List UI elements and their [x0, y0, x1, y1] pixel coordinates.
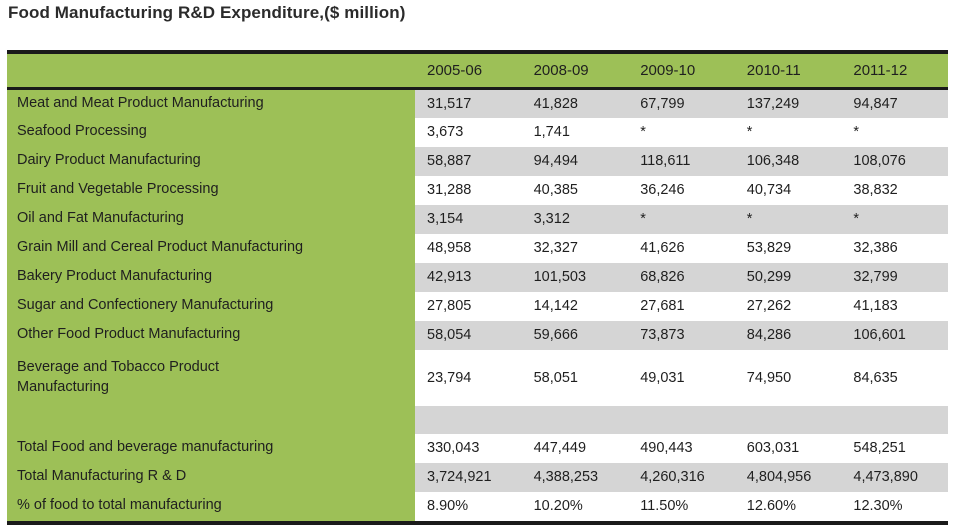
data-cell: 31,288 — [415, 176, 522, 205]
data-cell — [841, 406, 948, 434]
data-cell — [628, 406, 735, 434]
data-cell: 12.60% — [735, 492, 842, 521]
table-row: % of food to total manufacturing8.90%10.… — [7, 492, 948, 521]
table-row: Total Manufacturing R & D3,724,9214,388,… — [7, 463, 948, 492]
table-row: Meat and Meat Product Manufacturing31,51… — [7, 89, 948, 118]
page-title: Food Manufacturing R&D Expenditure,($ mi… — [8, 3, 405, 23]
row-label-line: % of food to total manufacturing — [17, 496, 409, 515]
row-label-line: Beverage and Tobacco Product — [17, 358, 409, 377]
table-row: Beverage and Tobacco ProductManufacturin… — [7, 350, 948, 406]
row-label-cell: Total Manufacturing R & D — [7, 463, 415, 492]
data-cell: * — [735, 118, 842, 147]
row-label-cell: Meat and Meat Product Manufacturing — [7, 89, 415, 118]
row-label-line-2: Manufacturing — [17, 378, 409, 397]
table-row: Oil and Fat Manufacturing3,1543,312*** — [7, 205, 948, 234]
row-label-cell: Seafood Processing — [7, 118, 415, 147]
data-cell: 48,958 — [415, 234, 522, 263]
row-label-line: Bakery Product Manufacturing — [17, 267, 409, 286]
column-header-2010-11: 2010-11 — [735, 54, 842, 89]
data-cell: 53,829 — [735, 234, 842, 263]
data-cell: 4,473,890 — [841, 463, 948, 492]
data-cell: 10.20% — [522, 492, 629, 521]
data-cell: 137,249 — [735, 89, 842, 118]
data-cell: 84,635 — [841, 350, 948, 406]
table-head: 2005-06 2008-09 2009-10 2010-11 2011-12 — [7, 54, 948, 89]
data-cell: 42,913 — [415, 263, 522, 292]
data-cell: * — [735, 205, 842, 234]
data-cell: 50,299 — [735, 263, 842, 292]
data-cell: 40,385 — [522, 176, 629, 205]
data-cell: 4,804,956 — [735, 463, 842, 492]
data-cell: 23,794 — [415, 350, 522, 406]
row-label-line: Total Food and beverage manufacturing — [17, 438, 409, 457]
data-cell: 32,327 — [522, 234, 629, 263]
column-header-2008-09: 2008-09 — [522, 54, 629, 89]
row-label-line: Meat and Meat Product Manufacturing — [17, 94, 409, 113]
data-cell: 11.50% — [628, 492, 735, 521]
row-label-cell: Bakery Product Manufacturing — [7, 263, 415, 292]
data-cell: 68,826 — [628, 263, 735, 292]
data-cell — [415, 406, 522, 434]
row-label-cell: Total Food and beverage manufacturing — [7, 434, 415, 463]
row-label-cell: Dairy Product Manufacturing — [7, 147, 415, 176]
table-row: Bakery Product Manufacturing42,913101,50… — [7, 263, 948, 292]
data-cell: 38,832 — [841, 176, 948, 205]
table-row: Seafood Processing3,6731,741*** — [7, 118, 948, 147]
data-cell: 330,043 — [415, 434, 522, 463]
row-label-cell: Oil and Fat Manufacturing — [7, 205, 415, 234]
row-label-line: Oil and Fat Manufacturing — [17, 209, 409, 228]
table-row: Grain Mill and Cereal Product Manufactur… — [7, 234, 948, 263]
page-root: Food Manufacturing R&D Expenditure,($ mi… — [0, 0, 955, 524]
column-header-2011-12: 2011-12 — [841, 54, 948, 89]
data-cell: 27,262 — [735, 292, 842, 321]
data-cell: * — [628, 118, 735, 147]
row-label-cell: Grain Mill and Cereal Product Manufactur… — [7, 234, 415, 263]
data-cell: * — [841, 118, 948, 147]
data-cell: 73,873 — [628, 321, 735, 350]
data-cell: 101,503 — [522, 263, 629, 292]
data-cell: 59,666 — [522, 321, 629, 350]
row-label-cell: Fruit and Vegetable Processing — [7, 176, 415, 205]
row-label-line: Sugar and Confectionery Manufacturing — [17, 296, 409, 315]
header-row: 2005-06 2008-09 2009-10 2010-11 2011-12 — [7, 54, 948, 89]
data-cell: 58,887 — [415, 147, 522, 176]
data-cell: 12.30% — [841, 492, 948, 521]
row-label-line: Grain Mill and Cereal Product Manufactur… — [17, 238, 409, 257]
row-label-line: Dairy Product Manufacturing — [17, 151, 409, 170]
row-label-cell: Sugar and Confectionery Manufacturing — [7, 292, 415, 321]
data-cell — [735, 406, 842, 434]
data-cell: 3,154 — [415, 205, 522, 234]
data-cell: 14,142 — [522, 292, 629, 321]
data-cell: 1,741 — [522, 118, 629, 147]
data-cell: 106,601 — [841, 321, 948, 350]
data-cell: 548,251 — [841, 434, 948, 463]
data-cell: 118,611 — [628, 147, 735, 176]
expenditure-table-container: 2005-06 2008-09 2009-10 2010-11 2011-12 … — [7, 50, 948, 525]
table-row: Fruit and Vegetable Processing31,28840,3… — [7, 176, 948, 205]
column-header-2009-10: 2009-10 — [628, 54, 735, 89]
data-cell: 31,517 — [415, 89, 522, 118]
data-cell: 67,799 — [628, 89, 735, 118]
row-label-cell: Beverage and Tobacco ProductManufacturin… — [7, 350, 415, 406]
table-spacer-row — [7, 406, 948, 434]
data-cell: 84,286 — [735, 321, 842, 350]
data-cell: 447,449 — [522, 434, 629, 463]
data-cell: 41,183 — [841, 292, 948, 321]
row-label-cell: Other Food Product Manufacturing — [7, 321, 415, 350]
table-row: Other Food Product Manufacturing58,05459… — [7, 321, 948, 350]
data-cell: 74,950 — [735, 350, 842, 406]
data-cell — [522, 406, 629, 434]
data-cell: 603,031 — [735, 434, 842, 463]
data-cell: 41,626 — [628, 234, 735, 263]
data-cell: 4,260,316 — [628, 463, 735, 492]
column-header-2005-06: 2005-06 — [415, 54, 522, 89]
data-cell: 27,805 — [415, 292, 522, 321]
data-cell: 41,828 — [522, 89, 629, 118]
expenditure-table: 2005-06 2008-09 2009-10 2010-11 2011-12 … — [7, 54, 948, 521]
data-cell: 32,799 — [841, 263, 948, 292]
data-cell: 58,051 — [522, 350, 629, 406]
table-row: Dairy Product Manufacturing58,88794,4941… — [7, 147, 948, 176]
data-cell: 106,348 — [735, 147, 842, 176]
table-row: Sugar and Confectionery Manufacturing27,… — [7, 292, 948, 321]
data-cell: 32,386 — [841, 234, 948, 263]
data-cell: 40,734 — [735, 176, 842, 205]
data-cell: * — [841, 205, 948, 234]
data-cell: 3,312 — [522, 205, 629, 234]
data-cell: 27,681 — [628, 292, 735, 321]
data-cell: 4,388,253 — [522, 463, 629, 492]
row-label-line: Fruit and Vegetable Processing — [17, 180, 409, 199]
data-cell: 94,494 — [522, 147, 629, 176]
table-row: Total Food and beverage manufacturing330… — [7, 434, 948, 463]
data-cell: 94,847 — [841, 89, 948, 118]
column-header-label — [7, 54, 415, 89]
table-body: Meat and Meat Product Manufacturing31,51… — [7, 89, 948, 521]
data-cell: 3,724,921 — [415, 463, 522, 492]
row-label-line: Total Manufacturing R & D — [17, 467, 409, 486]
data-cell: 36,246 — [628, 176, 735, 205]
row-label-cell: % of food to total manufacturing — [7, 492, 415, 521]
data-cell: 58,054 — [415, 321, 522, 350]
data-cell: 3,673 — [415, 118, 522, 147]
row-label-line: Seafood Processing — [17, 122, 409, 141]
row-label-line: Other Food Product Manufacturing — [17, 325, 409, 344]
data-cell: 49,031 — [628, 350, 735, 406]
data-cell: 108,076 — [841, 147, 948, 176]
row-label-cell — [7, 406, 415, 434]
data-cell: 8.90% — [415, 492, 522, 521]
data-cell: 490,443 — [628, 434, 735, 463]
data-cell: * — [628, 205, 735, 234]
